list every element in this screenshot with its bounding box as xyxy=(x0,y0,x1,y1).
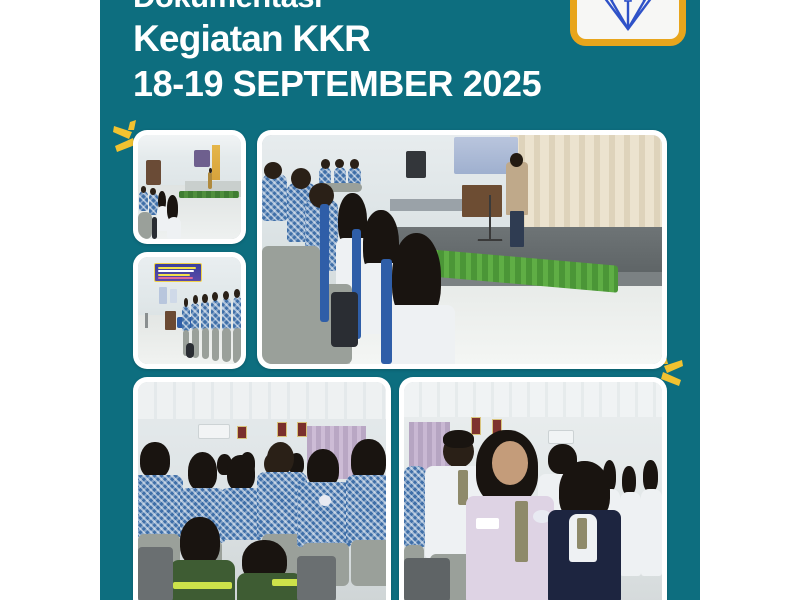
title-block: Dokumentasi Kegiatan KKR 18-19 SEPTEMBER… xyxy=(133,0,563,107)
photo-card-student-lineup[interactable] xyxy=(133,252,246,369)
photo-hall-assembly xyxy=(138,135,241,239)
poster-date: 18-19 SEPTEMBER 2025 xyxy=(133,61,563,107)
school-logo-badge xyxy=(570,0,686,46)
poster-header: Dokumentasi Kegiatan KKR 18-19 SEPTEMBER… xyxy=(100,0,700,120)
photo-card-hall-assembly[interactable] xyxy=(133,130,246,244)
photo-student-lineup xyxy=(138,257,241,364)
photo-card-pledge-students[interactable] xyxy=(133,377,391,600)
photo-card-seminar-speaker[interactable] xyxy=(257,130,667,369)
photo-card-prayer-students[interactable] xyxy=(399,377,667,600)
photo-seminar-speaker xyxy=(262,135,662,364)
poster-canvas: Dokumentasi Kegiatan KKR 18-19 SEPTEMBER… xyxy=(100,0,700,600)
school-emblem-icon xyxy=(592,0,664,33)
poster-kicker: Dokumentasi xyxy=(133,0,563,16)
photo-prayer-students xyxy=(404,382,662,600)
screenshot-canvas: Dokumentasi Kegiatan KKR 18-19 SEPTEMBER… xyxy=(0,0,800,600)
photo-pledge-students xyxy=(138,382,386,600)
poster-title: Kegiatan KKR xyxy=(133,16,563,61)
